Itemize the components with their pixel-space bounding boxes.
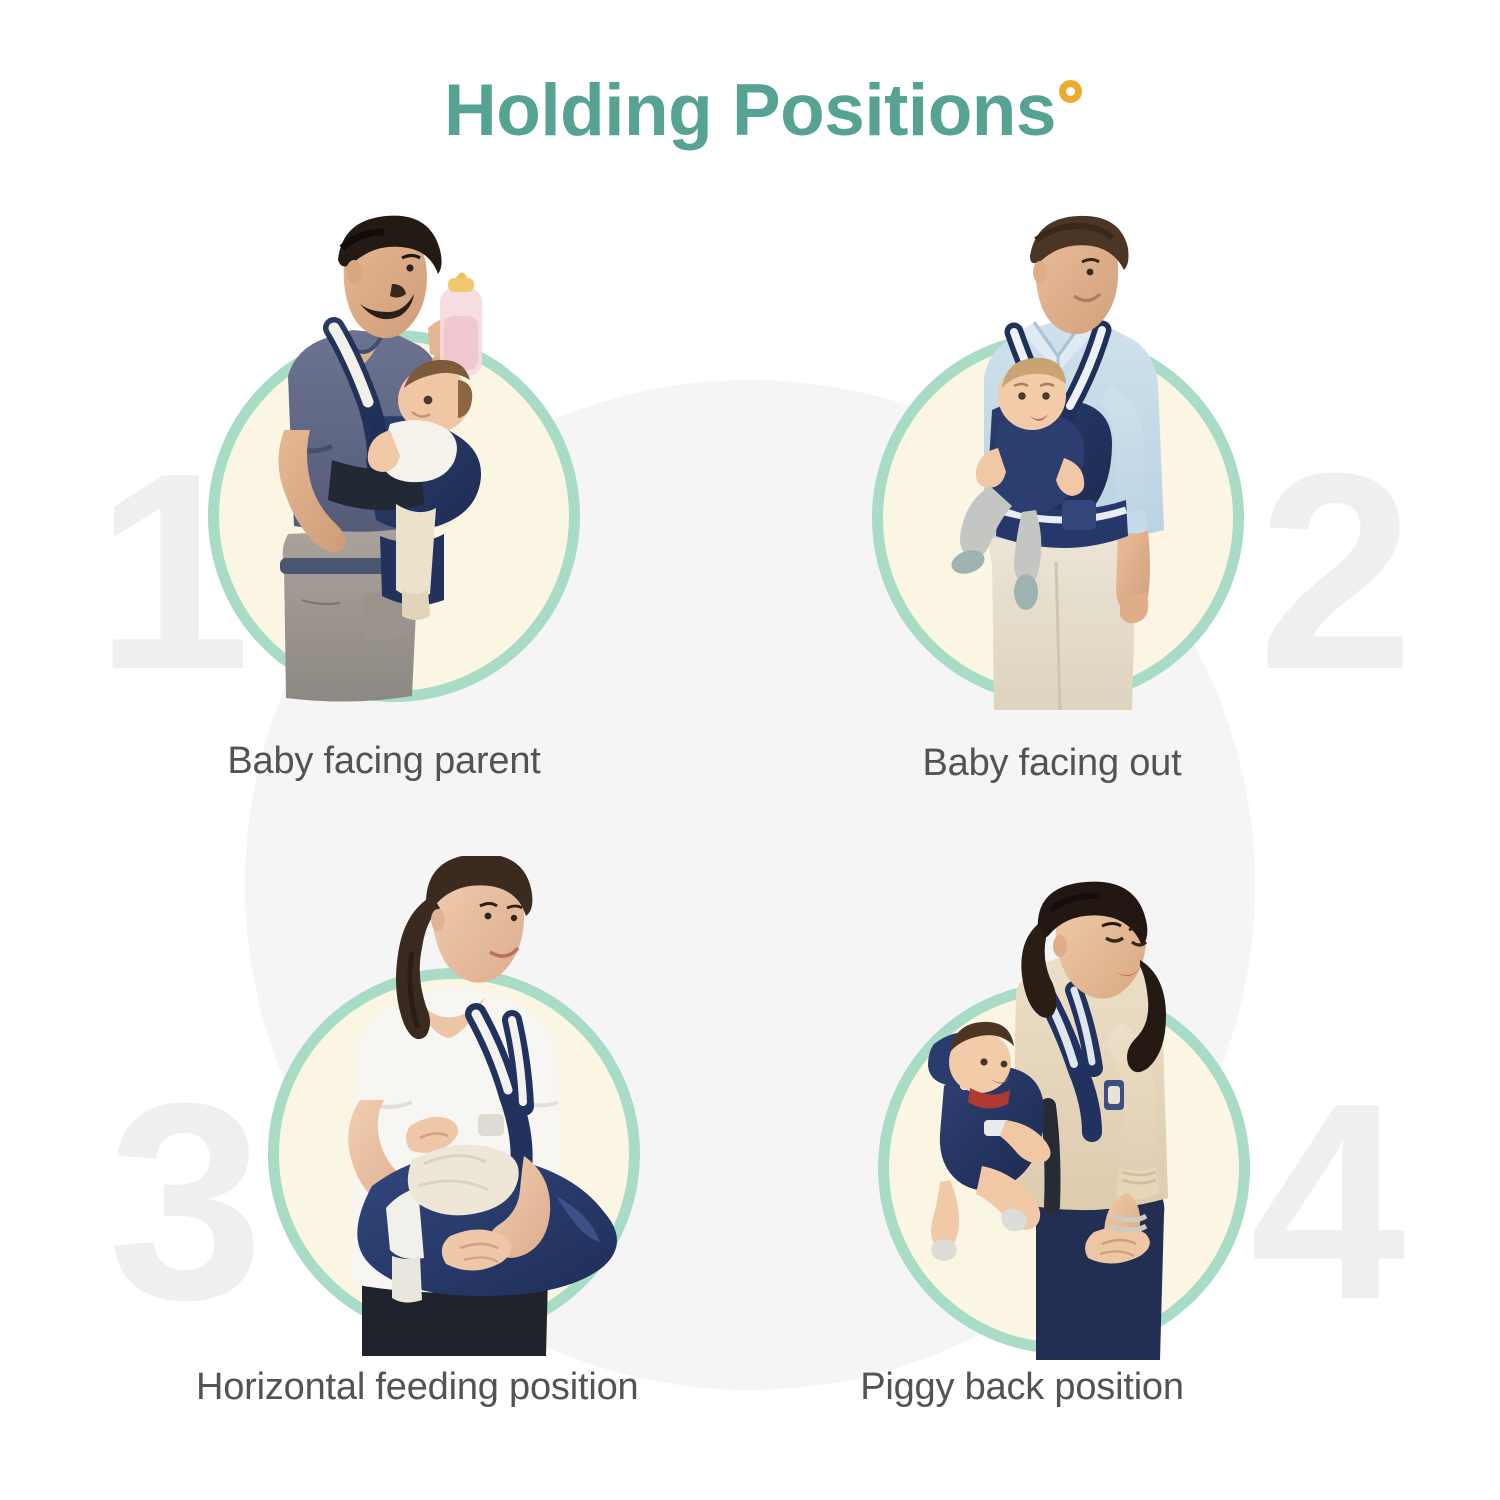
caption-4: Piggy back position (836, 1366, 1208, 1409)
page-title-text: Holding Positions (444, 70, 1056, 151)
infographic-page: Holding Positions 1 2 3 4 (0, 0, 1500, 1500)
photo-4 (878, 982, 1250, 1354)
watermark-number-3: 3 (108, 1062, 264, 1342)
caption-2: Baby facing out (866, 742, 1238, 785)
title-block: Holding Positions (0, 72, 1500, 151)
photo-1 (208, 330, 580, 702)
photo-baby-facing-parent (214, 212, 584, 712)
position-card-3: Horizontal feeding position (268, 968, 640, 1340)
photo-horizontal-feeding (264, 856, 644, 1356)
watermark-number-2: 2 (1258, 432, 1414, 712)
caption-3: Horizontal feeding position (196, 1366, 568, 1409)
photo-baby-facing-out (886, 210, 1242, 710)
photo-3 (268, 968, 640, 1340)
position-card-1: Baby facing parent (208, 330, 580, 702)
watermark-number-4: 4 (1250, 1062, 1406, 1342)
photo-2 (872, 332, 1244, 704)
page-title: Holding Positions (444, 72, 1056, 151)
position-card-2: Baby facing out (872, 332, 1244, 704)
photo-piggy-back (888, 880, 1248, 1360)
caption-1: Baby facing parent (198, 740, 570, 783)
position-card-4: Piggy back position (878, 982, 1250, 1354)
accent-dot-icon (1059, 80, 1082, 103)
